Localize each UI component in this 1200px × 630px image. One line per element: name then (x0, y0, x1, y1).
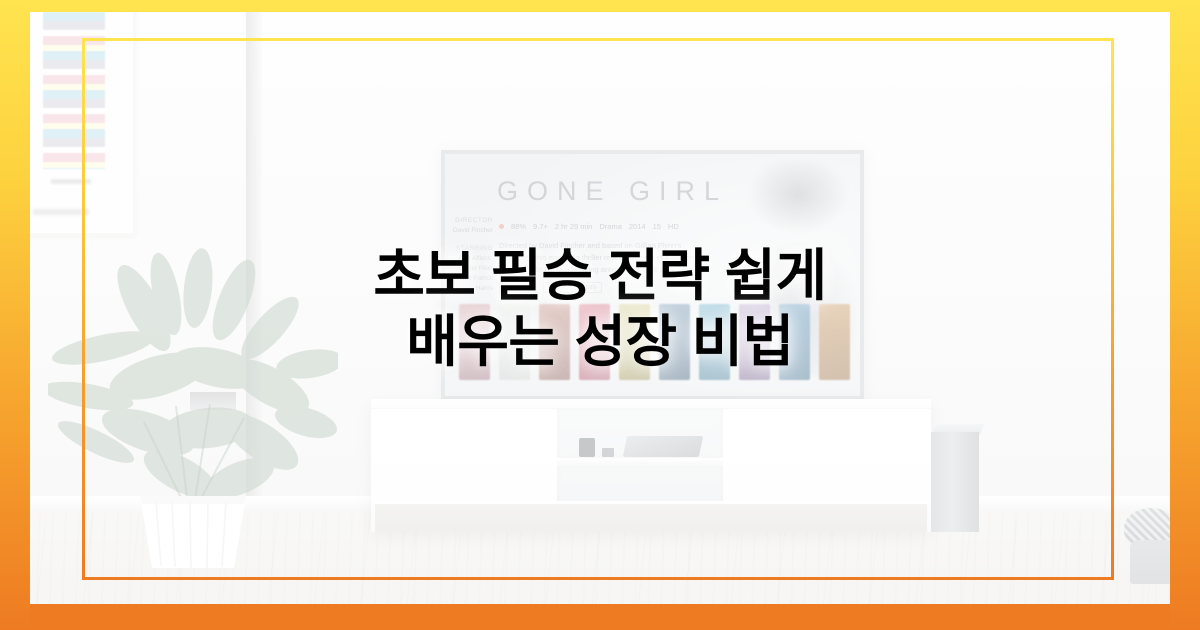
background-photo: GONE GIRL DIRECTOR David Fincher STARRIN… (0, 0, 1200, 630)
potted-plant (48, 236, 338, 568)
tv-score: 88% (511, 222, 526, 231)
framed-artwork (22, 0, 136, 236)
tv-runtime: 2 hr 29 min (555, 222, 593, 231)
tv-starring-label: STARRING (445, 244, 493, 254)
poster-10 (819, 304, 850, 380)
tv-button-trailer: Trailer (543, 282, 573, 293)
tv-director-name: David Fincher (445, 226, 493, 236)
console-device-console (623, 436, 703, 457)
tv-description: Directed by David Fincher and based on G… (499, 240, 714, 276)
knitted-pouf (1120, 508, 1182, 576)
poster-3 (539, 304, 570, 380)
tv-poster-row (459, 296, 850, 380)
poster-8 (739, 304, 770, 380)
floor-speaker (931, 432, 979, 532)
tv-movie-title: GONE GIRL (497, 176, 728, 207)
tv-year: 2014 (629, 222, 646, 231)
console-shelf-divider (557, 458, 723, 466)
console-device-receiver (579, 438, 595, 457)
wall-mounted-tv: GONE GIRL DIRECTOR David Fincher STARRIN… (441, 150, 864, 400)
media-console (371, 399, 931, 532)
poster-4 (579, 304, 610, 380)
tv-rating-score: 9.7+ (533, 222, 548, 231)
pouf-body (1130, 540, 1174, 584)
tv-starring-names: Ben Affleck, Rosamund Pike, Neil Patrick… (445, 254, 493, 294)
tv-button-info: Info (579, 282, 602, 293)
thumbnail-canvas: GONE GIRL DIRECTOR David Fincher STARRIN… (0, 0, 1200, 630)
tv-meta-row: 88% 9.7+ 2 hr 29 min Drama 2014 15 HD (499, 222, 679, 231)
tv-action-buttons: Available Trailer Info (499, 282, 602, 293)
artwork-stripes (43, 0, 105, 169)
tv-screen: GONE GIRL DIRECTOR David Fincher STARRIN… (445, 154, 860, 396)
poster-5 (619, 304, 650, 380)
poster-2 (499, 304, 530, 380)
poster-9 (779, 304, 810, 380)
artwork-caption (33, 209, 89, 215)
tv-button-available: Available (499, 282, 537, 293)
poster-7 (699, 304, 730, 380)
tv-maturity: 15 (653, 222, 661, 231)
tv-credits: DIRECTOR David Fincher STARRING Ben Affl… (445, 216, 493, 294)
console-base (375, 501, 927, 532)
poster-6 (659, 304, 690, 380)
score-dot-icon (499, 224, 504, 229)
tv-quality: HD (668, 222, 679, 231)
console-device-small (602, 448, 614, 457)
poster-1 (459, 304, 490, 380)
tv-genre: Drama (599, 222, 622, 231)
console-open-shelf (557, 408, 723, 504)
tv-director-label: DIRECTOR (445, 216, 493, 226)
artwork-signature (51, 179, 91, 184)
